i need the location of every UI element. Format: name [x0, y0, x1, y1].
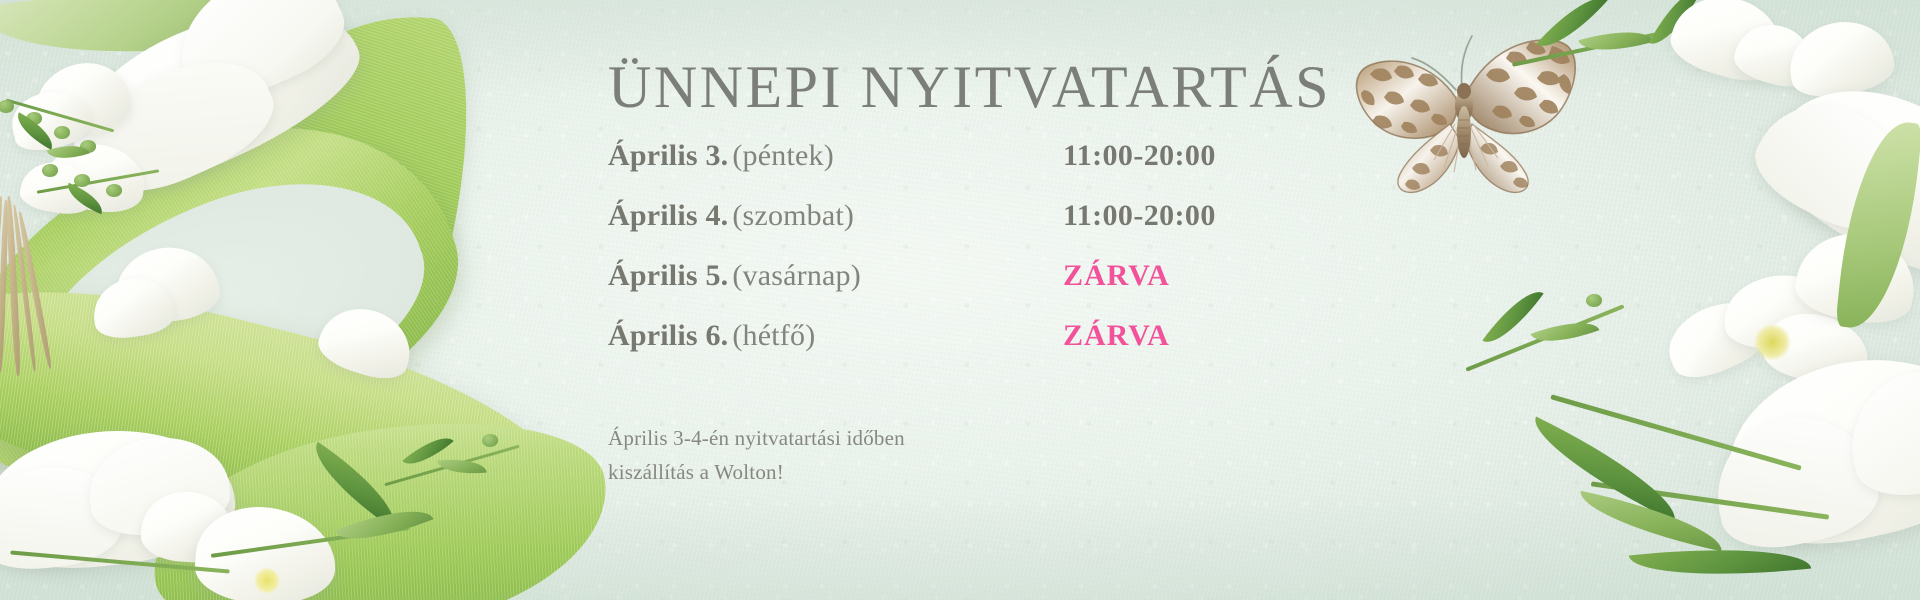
schedule-hours: 11:00-20:00 [1063, 139, 1216, 172]
white-tulip [14, 118, 170, 251]
delivery-note-line-2: kiszállítás a Wolton! [608, 455, 1348, 489]
ribbon-loop-opening [0, 140, 454, 486]
greenery-sprig [0, 96, 134, 216]
schedule-time-cell: 11:00-20:00 [1063, 141, 1348, 201]
green-satin-ribbon [0, 238, 593, 592]
white-tulip [0, 393, 279, 600]
schedule-date: Április 4. [608, 199, 728, 232]
schedule-weekday: (péntek) [732, 139, 834, 172]
schedule-time-cell: ZÁRVA [1063, 321, 1348, 381]
flower-stem [1591, 481, 1829, 519]
schedule-day-cell: Április 6. (hétfő) [608, 321, 1063, 381]
table-row: Április 5. (vasárnap) ZÁRVA [608, 261, 1348, 321]
schedule-closed-badge: ZÁRVA [1063, 319, 1170, 352]
right-floral-decoration [1480, 0, 1920, 600]
holiday-hours-banner: ÜNNEPI NYITVATARTÁS Április 3. (péntek) … [0, 0, 1920, 600]
white-tulip [288, 282, 443, 417]
white-tulip [1721, 27, 1920, 344]
greenery-sprig [1460, 276, 1650, 416]
schedule-date: Április 6. [608, 319, 728, 352]
schedule-weekday: (szombat) [732, 199, 854, 232]
flower-stem [1550, 394, 1801, 470]
page-title: ÜNNEPI NYITVATARTÁS [608, 56, 1348, 119]
flower-stem [211, 526, 410, 558]
tulip-leaf [1629, 537, 1811, 588]
schedule-time-cell: 11:00-20:00 [1063, 201, 1348, 261]
white-tulip [29, 0, 412, 254]
table-row: Április 4. (szombat) 11:00-20:00 [608, 201, 1348, 261]
tulip-leaf [301, 442, 409, 528]
schedule-time-cell: ZÁRVA [1063, 261, 1348, 321]
schedule-closed-badge: ZÁRVA [1063, 259, 1170, 292]
schedule-day-cell: Április 5. (vasárnap) [608, 261, 1063, 321]
green-satin-ribbon [0, 77, 494, 523]
schedule-weekday: (hétfő) [732, 319, 815, 352]
tulip-leaf [335, 495, 434, 555]
schedule-day-cell: Április 4. (szombat) [608, 201, 1063, 261]
tulip-leaf [1521, 416, 1689, 521]
edge-tulip-leaf [1846, 120, 1920, 380]
schedule-hours: 11:00-20:00 [1063, 199, 1216, 232]
greenery-sprig [1510, 0, 1770, 104]
left-floral-decoration [0, 0, 620, 600]
white-tulip [1661, 255, 1891, 420]
white-tulip [136, 481, 355, 600]
banner-content: ÜNNEPI NYITVATARTÁS Április 3. (péntek) … [608, 56, 1348, 489]
schedule-date: Április 3. [608, 139, 728, 172]
white-tulip [0, 34, 170, 187]
schedule-date: Április 5. [608, 259, 728, 292]
raffia-bundle [0, 196, 60, 386]
white-tulip [1770, 208, 1920, 366]
schedule-day-cell: Április 3. (péntek) [608, 141, 1063, 201]
white-tulip [78, 227, 253, 368]
delivery-note: Április 3-4-én nyitvatartási időben kisz… [608, 421, 1348, 489]
white-tulip [1772, 0, 1920, 132]
table-row: Április 6. (hétfő) ZÁRVA [608, 321, 1348, 381]
greenery-sprig [382, 424, 532, 544]
table-row: Április 3. (péntek) 11:00-20:00 [608, 141, 1348, 201]
tulip-leaf [0, 0, 284, 85]
green-satin-ribbon [193, 1, 497, 379]
green-satin-ribbon [137, 395, 623, 600]
schedule-weekday: (vasárnap) [732, 259, 861, 292]
flower-stem [10, 550, 230, 573]
butterfly-icon [1338, 28, 1588, 198]
delivery-note-line-1: Április 3-4-én nyitvatartási időben [608, 421, 1348, 455]
greenery-sprig [30, 150, 180, 260]
opening-hours-table: Április 3. (péntek) 11:00-20:00 Április … [608, 141, 1348, 381]
white-tulip [1682, 304, 1920, 598]
tulip-leaf [1575, 491, 1728, 552]
white-tulip [1643, 0, 1839, 131]
